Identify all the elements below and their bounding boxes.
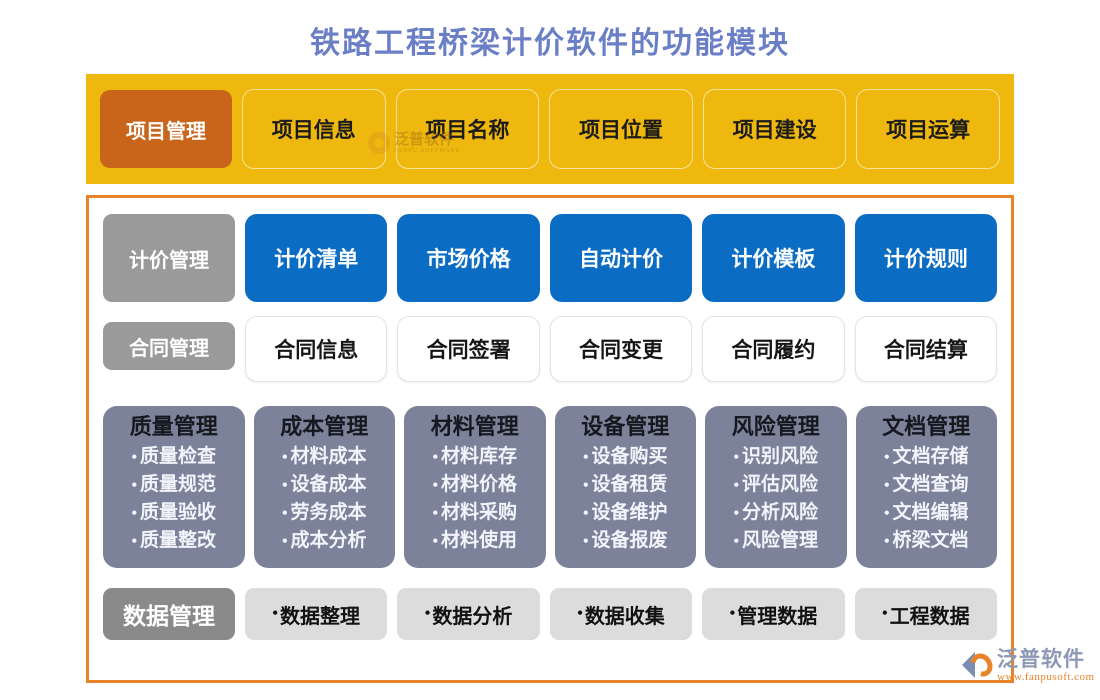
fanpu-logo-icon [962, 650, 992, 680]
data-item-4[interactable]: •工程数据 [855, 588, 997, 640]
list-item[interactable]: •设备购买 [583, 443, 668, 471]
contract-item-1[interactable]: 合同签署 [397, 316, 539, 382]
list-item[interactable]: •识别风险 [733, 443, 818, 471]
bullet-icon: • [583, 449, 589, 466]
module-card-risk[interactable]: 风险管理 •识别风险 •评估风险 •分析风险 •风险管理 [705, 406, 847, 568]
list-item[interactable]: •材料采购 [432, 499, 517, 527]
bullet-icon: • [583, 477, 589, 494]
bullet-icon: • [730, 605, 736, 623]
bullet-icon: • [131, 533, 137, 550]
list-item-label: 文档存储 [893, 446, 969, 467]
module-cards-row: 质量管理 •质量检查 •质量规范 •质量验收 •质量整改 成本管理 •材料成本 … [103, 406, 997, 574]
list-item-label: 质量整改 [140, 530, 216, 551]
list-item[interactable]: •评估风险 [733, 471, 818, 499]
module-card-cost[interactable]: 成本管理 •材料成本 •设备成本 •劳务成本 •成本分析 [254, 406, 396, 568]
bullet-icon: • [884, 505, 890, 522]
list-item[interactable]: •分析风险 [733, 499, 818, 527]
header-item-2[interactable]: 项目位置 [549, 89, 693, 169]
pricing-item-4[interactable]: 计价规则 [855, 214, 997, 302]
bullet-icon: • [882, 605, 888, 623]
header-lead-project-management[interactable]: 项目管理 [100, 90, 232, 168]
bullet-icon: • [282, 533, 288, 550]
bullet-icon: • [131, 505, 137, 522]
header-item-0[interactable]: 项目信息 [242, 89, 386, 169]
bullet-icon: • [577, 605, 583, 623]
list-item[interactable]: •成本分析 [282, 527, 367, 555]
bullet-icon: • [884, 533, 890, 550]
module-card-quality[interactable]: 质量管理 •质量检查 •质量规范 •质量验收 •质量整改 [103, 406, 245, 568]
bullet-icon: • [884, 449, 890, 466]
contract-item-0[interactable]: 合同信息 [245, 316, 387, 382]
list-item-label: 设备维护 [592, 502, 668, 523]
card-title: 设备管理 [581, 412, 669, 442]
card-title: 质量管理 [130, 412, 218, 442]
list-item-label: 质量验收 [140, 502, 216, 523]
list-item[interactable]: •质量整改 [131, 527, 216, 555]
data-item-label: 数据整理 [280, 600, 360, 629]
list-item-label: 文档查询 [893, 474, 969, 495]
list-item-label: 劳务成本 [291, 502, 367, 523]
bullet-icon: • [884, 477, 890, 494]
list-item[interactable]: •文档查询 [884, 471, 969, 499]
list-item-label: 评估风险 [742, 474, 818, 495]
data-item-label: 数据收集 [585, 600, 665, 629]
list-item-label: 识别风险 [742, 446, 818, 467]
card-title: 材料管理 [431, 412, 519, 442]
pricing-row: 计价管理 计价清单 市场价格 自动计价 计价模板 计价规则 [103, 214, 997, 306]
list-item-label: 质量检查 [140, 446, 216, 467]
contract-item-2[interactable]: 合同变更 [550, 316, 692, 382]
bullet-icon: • [272, 605, 278, 623]
card-list: •材料库存 •材料价格 •材料采购 •材料使用 [432, 443, 517, 555]
infographic-page: 铁路工程桥梁计价软件的功能模块 项目管理 项目信息 项目名称 项目位置 项目建设… [0, 0, 1100, 700]
pricing-lead-label[interactable]: 计价管理 [103, 214, 235, 302]
card-list: •识别风险 •评估风险 •分析风险 •风险管理 [733, 443, 818, 555]
list-item[interactable]: •质量验收 [131, 499, 216, 527]
list-item[interactable]: •材料成本 [282, 443, 367, 471]
list-item-label: 材料库存 [441, 446, 517, 467]
data-lead-label[interactable]: 数据管理 [103, 588, 235, 640]
pricing-item-3[interactable]: 计价模板 [702, 214, 844, 302]
header-item-1[interactable]: 项目名称 [396, 89, 540, 169]
bullet-icon: • [733, 449, 739, 466]
bullet-icon: • [131, 477, 137, 494]
data-item-2[interactable]: •数据收集 [550, 588, 692, 640]
card-list: •材料成本 •设备成本 •劳务成本 •成本分析 [282, 443, 367, 555]
contract-lead-label[interactable]: 合同管理 [103, 322, 235, 370]
pricing-item-2[interactable]: 自动计价 [550, 214, 692, 302]
list-item[interactable]: •设备维护 [583, 499, 668, 527]
card-title: 文档管理 [882, 412, 970, 442]
data-item-label: 数据分析 [432, 600, 512, 629]
list-item-label: 设备成本 [291, 474, 367, 495]
project-header-band: 项目管理 项目信息 项目名称 项目位置 项目建设 项目运算 [86, 74, 1014, 184]
bullet-icon: • [733, 533, 739, 550]
list-item[interactable]: •质量规范 [131, 471, 216, 499]
contract-item-3[interactable]: 合同履约 [702, 316, 844, 382]
list-item[interactable]: •设备成本 [282, 471, 367, 499]
list-item-label: 成本分析 [291, 530, 367, 551]
card-title: 成本管理 [280, 412, 368, 442]
data-item-label: 工程数据 [890, 600, 970, 629]
bullet-icon: • [583, 533, 589, 550]
bullet-icon: • [432, 449, 438, 466]
list-item-label: 分析风险 [742, 502, 818, 523]
module-card-document[interactable]: 文档管理 •文档存储 •文档查询 •文档编辑 •桥梁文档 [856, 406, 998, 568]
bullet-icon: • [733, 477, 739, 494]
header-item-3[interactable]: 项目建设 [703, 89, 847, 169]
list-item[interactable]: •风险管理 [733, 527, 818, 555]
bullet-icon: • [733, 505, 739, 522]
data-row: 数据管理 •数据整理 •数据分析 •数据收集 •管理数据 •工程数据 [103, 588, 997, 644]
pricing-item-0[interactable]: 计价清单 [245, 214, 387, 302]
bullet-icon: • [282, 477, 288, 494]
brand-url: www.fanpusoft.com [997, 671, 1095, 684]
list-item[interactable]: •设备租赁 [583, 471, 668, 499]
data-item-3[interactable]: •管理数据 [702, 588, 844, 640]
list-item-label: 桥梁文档 [893, 530, 969, 551]
list-item[interactable]: •劳务成本 [282, 499, 367, 527]
page-title: 铁路工程桥梁计价软件的功能模块 [0, 18, 1100, 62]
bullet-icon: • [432, 533, 438, 550]
list-item-label: 设备报废 [592, 530, 668, 551]
bullet-icon: • [425, 605, 431, 623]
list-item-label: 材料采购 [441, 502, 517, 523]
pricing-item-1[interactable]: 市场价格 [397, 214, 539, 302]
list-item-label: 材料成本 [291, 446, 367, 467]
card-title: 风险管理 [732, 412, 820, 442]
card-list: •设备购买 •设备租赁 •设备维护 •设备报废 [583, 443, 668, 555]
list-item[interactable]: •质量检查 [131, 443, 216, 471]
bullet-icon: • [432, 477, 438, 494]
list-item[interactable]: •材料库存 [432, 443, 517, 471]
modules-frame: 计价管理 计价清单 市场价格 自动计价 计价模板 计价规则 合同管理 合同信息 … [86, 195, 1014, 683]
bullet-icon: • [432, 505, 438, 522]
brand-logo: 泛普软件 www.fanpusoft.com [962, 648, 1094, 694]
header-item-4[interactable]: 项目运算 [856, 89, 1000, 169]
list-item-label: 文档编辑 [893, 502, 969, 523]
bullet-icon: • [282, 505, 288, 522]
list-item-label: 设备租赁 [592, 474, 668, 495]
list-item[interactable]: •设备报废 [583, 527, 668, 555]
list-item[interactable]: •文档存储 [884, 443, 969, 471]
list-item-label: 设备购买 [592, 446, 668, 467]
data-item-0[interactable]: •数据整理 [245, 588, 387, 640]
bullet-icon: • [131, 449, 137, 466]
contract-row: 合同管理 合同信息 合同签署 合同变更 合同履约 合同结算 [103, 316, 997, 392]
contract-item-4[interactable]: 合同结算 [855, 316, 997, 382]
list-item[interactable]: •材料使用 [432, 527, 517, 555]
list-item[interactable]: •文档编辑 [884, 499, 969, 527]
list-item-label: 材料价格 [441, 474, 517, 495]
card-list: •文档存储 •文档查询 •文档编辑 •桥梁文档 [884, 443, 969, 555]
module-card-equipment[interactable]: 设备管理 •设备购买 •设备租赁 •设备维护 •设备报废 [555, 406, 697, 568]
module-card-material[interactable]: 材料管理 •材料库存 •材料价格 •材料采购 •材料使用 [404, 406, 546, 568]
data-item-1[interactable]: •数据分析 [397, 588, 539, 640]
list-item[interactable]: •桥梁文档 [884, 527, 969, 555]
data-item-label: 管理数据 [737, 600, 817, 629]
brand-name: 泛普软件 [997, 648, 1095, 671]
card-list: •质量检查 •质量规范 •质量验收 •质量整改 [131, 443, 216, 555]
list-item-label: 质量规范 [140, 474, 216, 495]
list-item-label: 风险管理 [742, 530, 818, 551]
bullet-icon: • [282, 449, 288, 466]
list-item-label: 材料使用 [441, 530, 517, 551]
list-item[interactable]: •材料价格 [432, 471, 517, 499]
bullet-icon: • [583, 505, 589, 522]
